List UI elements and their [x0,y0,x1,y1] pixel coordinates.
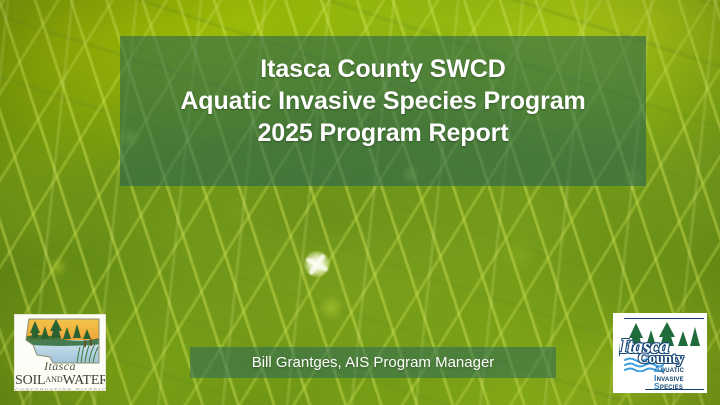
title-line-1: Itasca County SWCD [260,53,505,85]
itasca-county-ais-logo: Itasca County AQUATIC INVASIVE SPECIES P… [613,313,707,393]
itasca-swcd-logo: Itasca SOILANDWATER CONSERVATION DISTRIC… [14,314,106,391]
ais-program-text: AQUATIC INVASIVE SPECIES PROGRAM [654,366,704,390]
swcd-logo-artwork [19,318,103,364]
swcd-logo-text: Itasca SOILANDWATER CONSERVATION DISTRIC… [15,360,105,391]
swcd-soil-word: SOIL [15,373,45,388]
ais-logo-inner: Itasca County AQUATIC INVASIVE SPECIES P… [616,316,704,390]
ais-rest-aquatic: QUATIC [660,368,684,374]
ais-rest-invasive: NVASIVE [657,377,684,383]
ais-county-word: County [638,352,684,367]
swcd-conservation-district: CONSERVATION DISTRICT [15,388,105,391]
swcd-soil-and-water: SOILANDWATER [15,372,105,388]
ais-program-line-species: SPECIES [654,383,704,390]
title-banner: Itasca County SWCD Aquatic Invasive Spec… [120,36,646,186]
presenter-banner: Bill Grantges, AIS Program Manager [190,347,556,378]
swcd-water-word: WATER [63,373,106,388]
title-line-2: Aquatic Invasive Species Program [180,85,585,117]
ais-rest-species: PECIES [660,385,683,390]
ais-program-line-invasive: INVASIVE [654,375,704,384]
presentation-slide: Itasca County SWCD Aquatic Invasive Spec… [0,0,720,405]
swcd-and-word: AND [45,375,62,384]
swcd-itasca-word: Itasca [15,360,105,372]
presenter-name-and-role: Bill Grantges, AIS Program Manager [252,354,495,372]
ais-program-line-aquatic: AQUATIC [654,366,704,375]
title-line-3: 2025 Program Report [258,117,509,149]
swcd-landscape-illustration [19,318,103,364]
